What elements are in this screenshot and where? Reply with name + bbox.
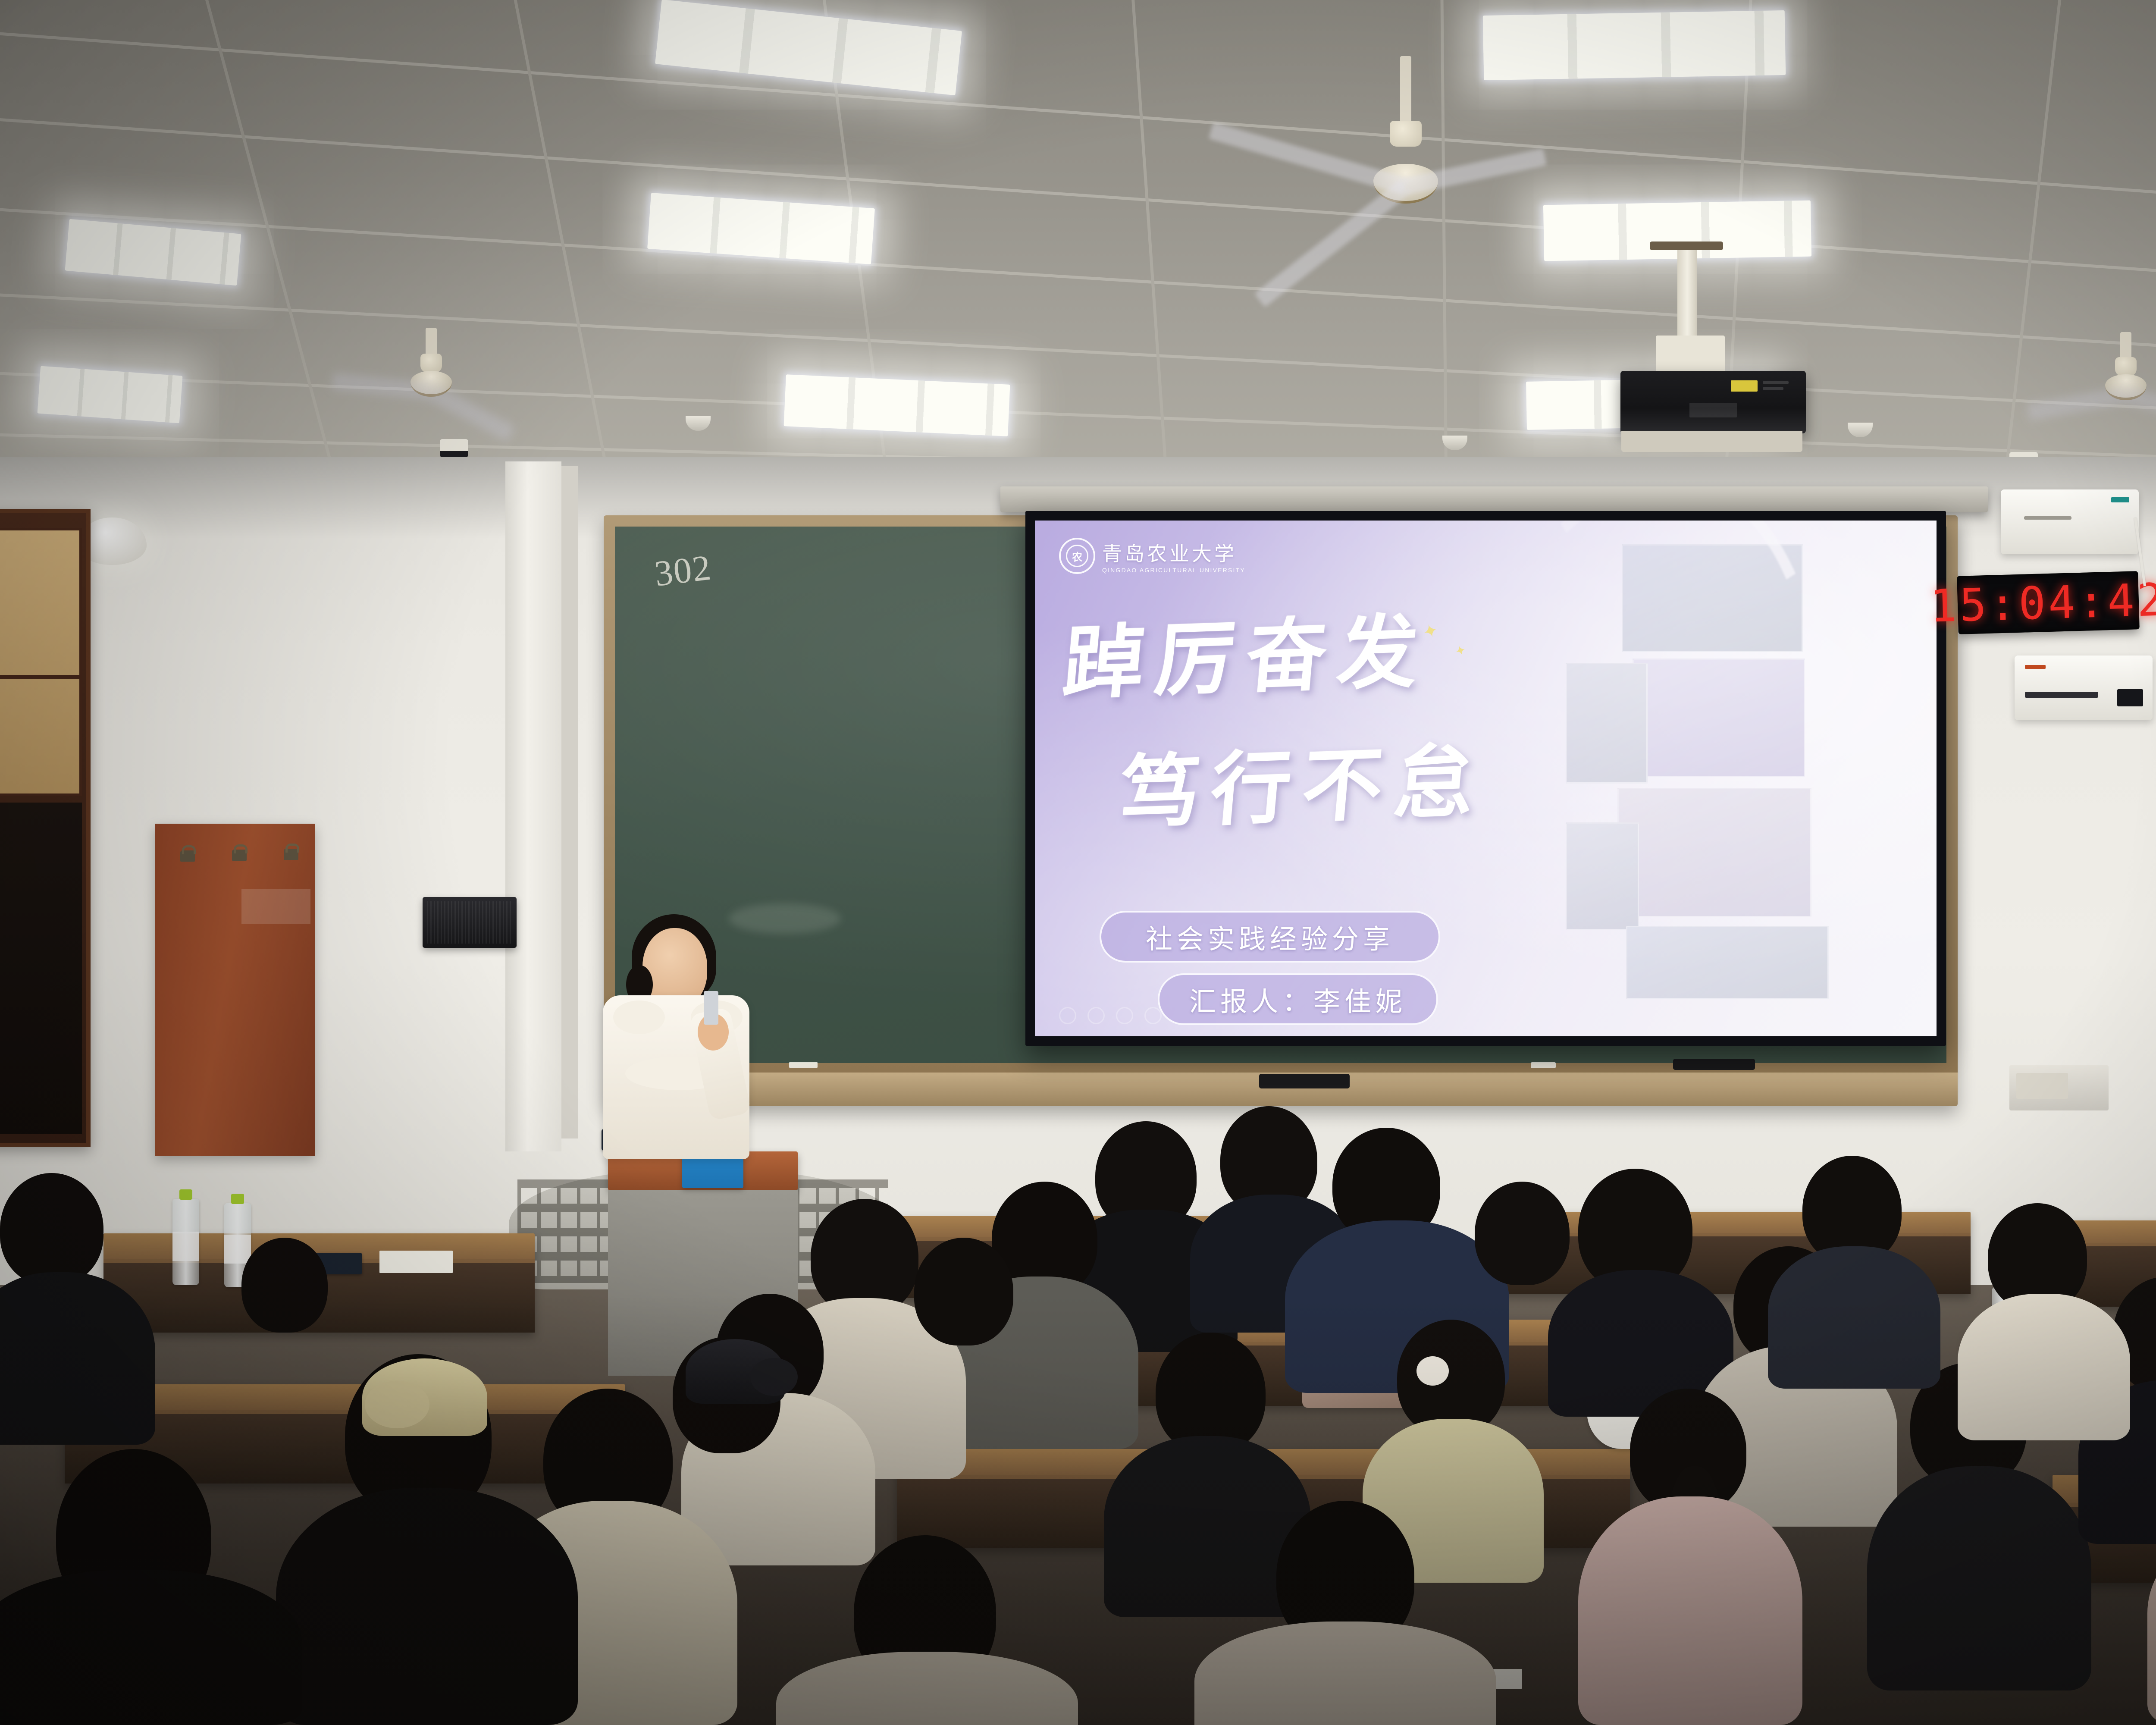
slide-toolbar-icon[interactable] (1059, 1007, 1076, 1024)
university-logo: 农 青岛农业大学 QINGDAO AGRICULTURAL UNIVERSITY (1059, 538, 1245, 574)
ceiling-panel-light (784, 374, 1010, 436)
slide-content: 农 青岛农业大学 QINGDAO AGRICULTURAL UNIVERSITY… (1035, 521, 1937, 1036)
slide-presenter-pill: 汇报人：李佳妮 (1158, 973, 1438, 1025)
university-name-en: QINGDAO AGRICULTURAL UNIVERSITY (1102, 567, 1245, 574)
audience-body (0, 1272, 155, 1445)
audience-body (1958, 1294, 2130, 1440)
slide-toolbar (1059, 1007, 1162, 1024)
ceiling-projector (1570, 241, 1897, 461)
classroom-door-left[interactable] (0, 509, 91, 1147)
slide-toolbar-icon[interactable] (1116, 1007, 1133, 1024)
audience-head (1156, 1333, 1266, 1453)
audience-body (1768, 1246, 1940, 1389)
wall-pilaster (505, 461, 561, 1151)
wall-controller-box (2015, 655, 2153, 720)
ceiling-fan (2053, 332, 2156, 440)
slide-headline-line2: 笃行不怠 (1116, 716, 1491, 844)
hair-scrunchie (1416, 1356, 1449, 1386)
classroom-presentation-photo: 302 农 青岛农业大学 (0, 0, 2156, 1725)
audience-body (0, 1570, 302, 1725)
projection-screen-case (1000, 486, 1988, 512)
slide-subject-pill: 社会实践经验分享 (1100, 911, 1440, 963)
slide-photo-collage (1540, 521, 1937, 1036)
led-wall-clock: 15:04:42 (1957, 571, 2140, 634)
audience-head (1475, 1182, 1570, 1285)
audience-body (1867, 1466, 2091, 1690)
ceiling-panel-light (38, 366, 183, 423)
tape-patch (241, 889, 310, 924)
projection-screen: 农 青岛农业大学 QINGDAO AGRICULTURAL UNIVERSITY… (1025, 511, 1946, 1046)
presentation-clicker (704, 991, 718, 1025)
coat-hook-icon (180, 850, 195, 862)
slide-toolbar-icon[interactable] (1087, 1007, 1105, 1024)
wall-speaker (2009, 1065, 2109, 1110)
slide-headline-line1: 踔厉奋发 (1059, 586, 1435, 715)
water-bottle (172, 1199, 199, 1285)
audience-body (1194, 1621, 1496, 1725)
baseball-cap-dark (686, 1339, 785, 1404)
coat-rack-board (155, 824, 315, 1156)
seal-glyph: 农 (1066, 545, 1088, 567)
slide-toolbar-icon[interactable] (1144, 1007, 1162, 1024)
paper-sheet (379, 1251, 453, 1273)
university-name-cn: 青岛农业大学 (1102, 538, 1245, 567)
audience-body (276, 1488, 578, 1725)
wall-equipment-box (2001, 489, 2139, 554)
audience-body (1578, 1496, 1802, 1725)
ceiling-fan (362, 328, 500, 436)
wall-pilaster (561, 466, 578, 1138)
coat-hook-icon (284, 849, 298, 860)
wall-speaker (423, 897, 517, 948)
presenter (591, 914, 785, 1156)
coat-hook-icon (232, 850, 247, 861)
university-seal-icon: 农 (1059, 538, 1095, 574)
baseball-cap (362, 1358, 487, 1436)
audience-head (914, 1238, 1013, 1345)
blackboard-room-number: 302 (652, 546, 714, 595)
ceiling-fan (1242, 56, 1570, 298)
audience-head (0, 1173, 103, 1285)
chalk-eraser (1259, 1074, 1350, 1088)
clock-display: 15:04:42 (1929, 573, 2156, 632)
audience-head (241, 1238, 328, 1333)
